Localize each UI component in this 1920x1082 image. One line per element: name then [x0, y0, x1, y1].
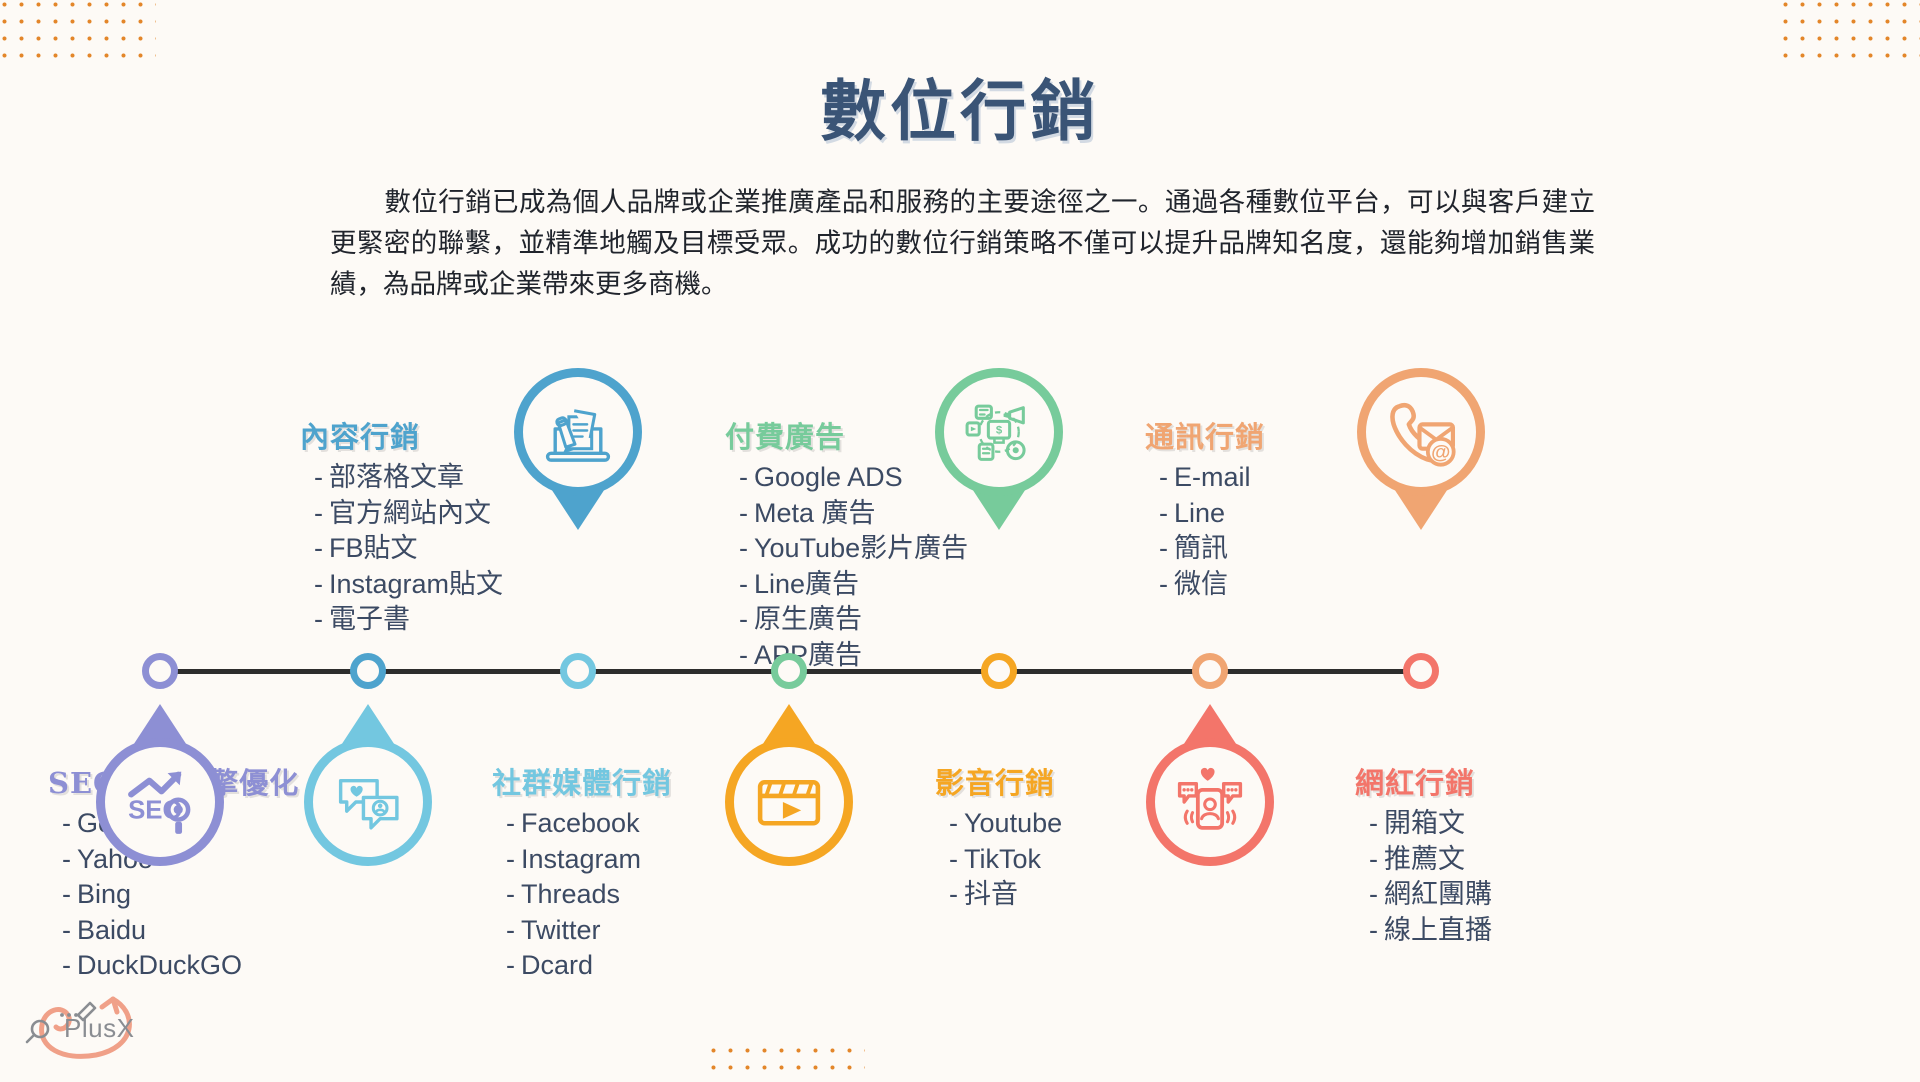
intro-paragraph: 數位行銷已成為個人品牌或企業推廣產品和服務的主要途徑之一。通過各種數位平台，可以… [330, 182, 1595, 305]
bullet-dash: - [1369, 844, 1378, 874]
list-item: -Google ADS [739, 460, 968, 496]
list-item: -部落格文章 [314, 460, 503, 496]
bullet-dash: - [314, 462, 323, 492]
bullet-dash: - [1159, 462, 1168, 492]
timeline-node-social[interactable] [560, 653, 596, 689]
bullet-label: Facebook [521, 808, 640, 838]
intro-line-1: 數位行銷已成為個人品牌或企業推廣產品和服務的主要途徑之一。通過各種數位 [384, 187, 1326, 218]
channel-heading-paid-ads: 付費廣告 [725, 414, 968, 456]
bullet-dash: - [506, 950, 515, 980]
bullet-dash: - [1369, 808, 1378, 838]
channel-block-social: 社群媒體行銷-Facebook-Instagram-Threads-Twitte… [492, 760, 672, 984]
svg-text:@: @ [1431, 442, 1450, 464]
plusx-logo: PlusX [18, 985, 148, 1063]
channel-heading-video: 影音行銷 [935, 760, 1062, 802]
bullet-dash: - [314, 533, 323, 563]
channel-list-influencer: -開箱文-推薦文-網紅團購-線上直播 [1355, 806, 1492, 948]
timeline-node-video[interactable] [981, 653, 1017, 689]
list-item: -Threads [506, 877, 672, 913]
bullet-dash: - [314, 498, 323, 528]
list-item: -Dcard [506, 948, 672, 984]
list-item: -Instagram [506, 842, 672, 878]
list-item: -Youtube [949, 806, 1062, 842]
bullet-label: Meta 廣告 [754, 498, 876, 528]
timeline-node-paid-ads[interactable] [771, 653, 807, 689]
video-play-clapper-icon [725, 738, 853, 866]
pin-marker-social[interactable] [304, 738, 432, 866]
list-item: -FB貼文 [314, 531, 503, 567]
bullet-dash: - [739, 604, 748, 634]
bullet-dash: - [506, 879, 515, 909]
timeline-node-content[interactable] [350, 653, 386, 689]
bullet-label: Line廣告 [754, 569, 859, 599]
bullet-dash: - [1159, 533, 1168, 563]
phone-email-at-icon: @ [1357, 368, 1485, 496]
bullet-dash: - [1369, 879, 1378, 909]
list-item: -網紅團購 [1369, 877, 1492, 913]
bullet-dash: - [1369, 915, 1378, 945]
bullet-dash: - [739, 533, 748, 563]
bullet-dash: - [739, 498, 748, 528]
logo-wordmark: PlusX [64, 1013, 134, 1044]
bullet-label: 微信 [1174, 569, 1228, 599]
channel-block-messaging: 通訊行銷-E-mail-Line-簡訊-微信 [1145, 414, 1265, 602]
bullet-label: 網紅團購 [1384, 879, 1492, 909]
list-item: -電子書 [314, 602, 503, 638]
bullet-dash: - [506, 808, 515, 838]
bullet-label: Threads [521, 879, 620, 909]
list-item: -Instagram貼文 [314, 567, 503, 603]
bullet-label: 部落格文章 [329, 462, 464, 492]
bullet-dash: - [62, 879, 71, 909]
svg-text:$: $ [996, 425, 1003, 437]
bullet-label: 簡訊 [1174, 533, 1228, 563]
list-item: -微信 [1159, 567, 1265, 603]
bullet-dash: - [739, 640, 748, 670]
seo-growth-chart-icon: SEO [96, 738, 224, 866]
bullet-dash: - [62, 915, 71, 945]
list-item: -E-mail [1159, 460, 1265, 496]
dot-pattern-top-left [0, 0, 156, 62]
list-item: -簡訊 [1159, 531, 1265, 567]
list-item: -Facebook [506, 806, 672, 842]
list-item: -YouTube影片廣告 [739, 531, 968, 567]
list-item: -抖音 [949, 877, 1062, 913]
timeline-node-seo[interactable] [142, 653, 178, 689]
pin-marker-content[interactable] [514, 368, 642, 496]
channel-block-video: 影音行銷-Youtube-TikTok-抖音 [935, 760, 1062, 913]
bullet-label: Instagram貼文 [329, 569, 503, 599]
list-item: -Line [1159, 496, 1265, 532]
channel-list-video: -Youtube-TikTok-抖音 [935, 806, 1062, 913]
bullet-label: Bing [77, 879, 131, 909]
list-item: -Twitter [506, 913, 672, 949]
channel-list-messaging: -E-mail-Line-簡訊-微信 [1145, 460, 1265, 602]
bullet-label: YouTube影片廣告 [754, 533, 968, 563]
bullet-label: FB貼文 [329, 533, 418, 563]
bullet-label: APP廣告 [754, 640, 862, 670]
bullet-dash: - [949, 844, 958, 874]
pin-marker-messaging[interactable]: @ [1357, 368, 1485, 496]
bullet-label: TikTok [964, 844, 1041, 874]
bullet-dash: - [949, 879, 958, 909]
timeline-node-influencer[interactable] [1403, 653, 1439, 689]
chat-bubbles-heart-icon [304, 738, 432, 866]
list-item: -Baidu [62, 913, 299, 949]
list-item: -推薦文 [1369, 842, 1492, 878]
ads-megaphone-screen-icon: $ [935, 368, 1063, 496]
bullet-label: 抖音 [964, 879, 1018, 909]
bullet-label: Baidu [77, 915, 146, 945]
channel-heading-influencer: 網紅行銷 [1355, 760, 1492, 802]
list-item: -Line廣告 [739, 567, 968, 603]
bullet-label: 線上直播 [1384, 915, 1492, 945]
bullet-label: DuckDuckGO [77, 950, 242, 980]
dot-pattern-bottom-center [705, 1042, 865, 1082]
phone-influencer-chat-icon [1146, 738, 1274, 866]
list-item: -TikTok [949, 842, 1062, 878]
laptop-documents-pencil-icon [514, 368, 642, 496]
bullet-dash: - [506, 915, 515, 945]
bullet-label: Dcard [521, 950, 593, 980]
bullet-dash: - [62, 950, 71, 980]
bullet-dash: - [314, 569, 323, 599]
list-item: -線上直播 [1369, 913, 1492, 949]
bullet-label: 原生廣告 [754, 604, 862, 634]
channel-heading-messaging: 通訊行銷 [1145, 414, 1265, 456]
bullet-label: Twitter [521, 915, 601, 945]
timeline-node-messaging[interactable] [1192, 653, 1228, 689]
channel-list-social: -Facebook-Instagram-Threads-Twitter-Dcar… [492, 806, 672, 984]
bullet-label: Youtube [964, 808, 1062, 838]
bullet-label: 電子書 [329, 604, 410, 634]
bullet-dash: - [1159, 498, 1168, 528]
bullet-dash: - [739, 462, 748, 492]
bullet-dash: - [62, 844, 71, 874]
pin-marker-video[interactable] [725, 738, 853, 866]
bullet-dash: - [949, 808, 958, 838]
bullet-dash: - [62, 808, 71, 838]
pin-marker-influencer[interactable] [1146, 738, 1274, 866]
dot-pattern-top-right [1777, 0, 1920, 62]
bullet-label: Google ADS [754, 462, 903, 492]
list-item: -Bing [62, 877, 299, 913]
bullet-dash: - [314, 604, 323, 634]
bullet-label: 官方網站內文 [329, 498, 491, 528]
bullet-label: 開箱文 [1384, 808, 1465, 838]
list-item: -Meta 廣告 [739, 496, 968, 532]
channel-list-content: -部落格文章-官方網站內文-FB貼文-Instagram貼文-電子書 [300, 460, 503, 638]
pin-marker-seo[interactable]: SEO [96, 738, 224, 866]
bullet-label: Line [1174, 498, 1225, 528]
bullet-dash: - [739, 569, 748, 599]
list-item: -原生廣告 [739, 602, 968, 638]
bullet-dash: - [506, 844, 515, 874]
bullet-label: 推薦文 [1384, 844, 1465, 874]
channel-block-paid-ads: 付費廣告-Google ADS-Meta 廣告-YouTube影片廣告-Line… [725, 414, 968, 673]
channel-block-content: 內容行銷-部落格文章-官方網站內文-FB貼文-Instagram貼文-電子書 [300, 414, 503, 638]
channel-heading-social: 社群媒體行銷 [492, 760, 672, 802]
channel-heading-content: 內容行銷 [300, 414, 503, 456]
channel-list-paid-ads: -Google ADS-Meta 廣告-YouTube影片廣告-Line廣告-原… [725, 460, 968, 673]
bullet-label: Instagram [521, 844, 641, 874]
list-item: -開箱文 [1369, 806, 1492, 842]
list-item: -DuckDuckGO [62, 948, 299, 984]
bullet-dash: - [1159, 569, 1168, 599]
list-item: -官方網站內文 [314, 496, 503, 532]
channel-block-influencer: 網紅行銷-開箱文-推薦文-網紅團購-線上直播 [1355, 760, 1492, 948]
pin-marker-paid-ads[interactable]: $ [935, 368, 1063, 496]
bullet-label: E-mail [1174, 462, 1251, 492]
page-title: 數位行銷 [0, 58, 1920, 154]
